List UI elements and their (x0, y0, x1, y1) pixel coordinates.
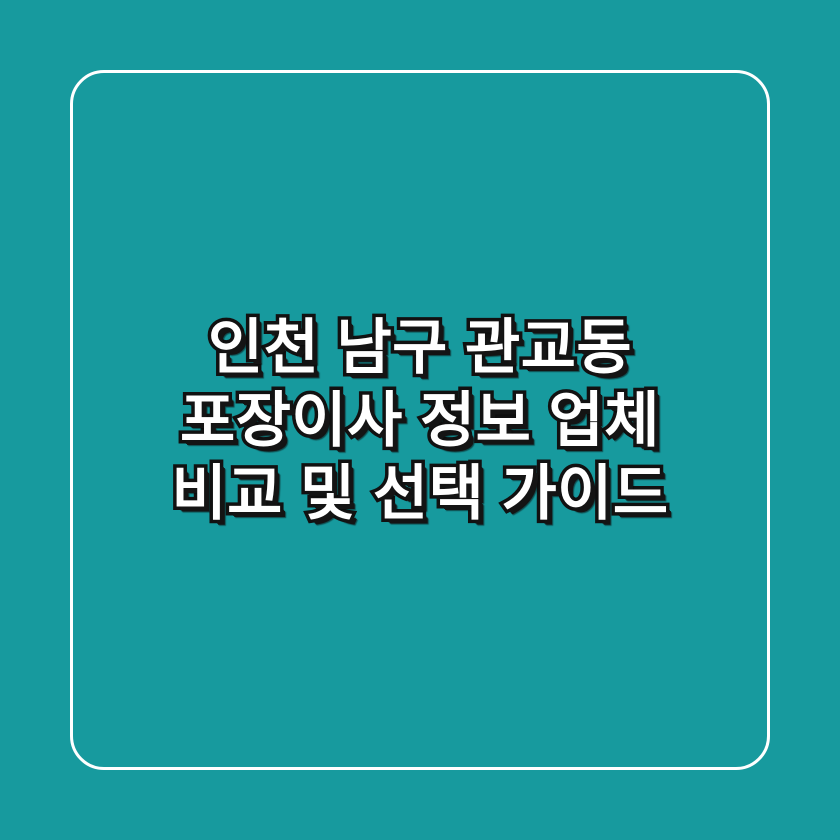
headline-block: 인천 남구 관교동 포장이사 정보 업체 비교 및 선택 가이드 (0, 0, 840, 840)
headline-line-3: 비교 및 선택 가이드 (171, 457, 668, 530)
headline-line-1: 인천 남구 관교동 (208, 311, 632, 384)
thumbnail-card: 인천 남구 관교동 포장이사 정보 업체 비교 및 선택 가이드 (0, 0, 840, 840)
headline-line-2: 포장이사 정보 업체 (180, 384, 660, 457)
